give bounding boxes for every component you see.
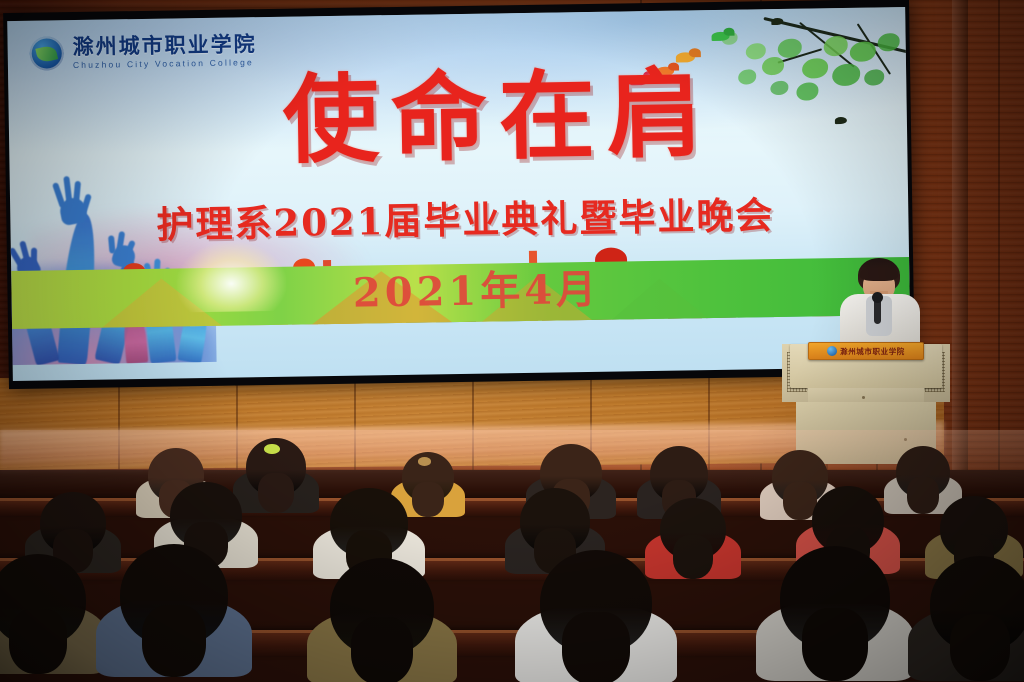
college-logo: 滁州城市职业学院 Chuzhou City Vocation College [29, 33, 257, 71]
hair-scrunchie [418, 457, 432, 466]
leaf [850, 41, 876, 61]
wall-corner [952, 0, 968, 470]
audience-member [170, 482, 242, 548]
audience-member [246, 438, 306, 496]
bird-icon [771, 17, 785, 26]
audience-member [0, 554, 86, 646]
lectern-screw [862, 396, 865, 399]
audience-hair-fall [9, 609, 67, 673]
audience-hair-fall [562, 612, 629, 682]
college-name-cn: 滁州城市职业学院 [72, 33, 256, 57]
audience-hair-fall [258, 473, 294, 514]
audience-area [0, 430, 1024, 682]
wall-seam [998, 0, 1000, 470]
leaf [746, 43, 766, 59]
audience-member [930, 556, 1024, 652]
audience-member [402, 452, 454, 502]
sun-glow [176, 241, 287, 313]
bird-icon [711, 30, 733, 42]
hair-scrunchie [264, 444, 280, 454]
presenter-fringe [860, 267, 898, 281]
microphone-head [872, 292, 883, 303]
audience-hair-fall [351, 617, 413, 682]
audience-member [40, 492, 106, 554]
audience-hair-fall [412, 482, 443, 517]
audience-member [940, 496, 1008, 560]
audience-member [650, 446, 708, 502]
audience-member [330, 558, 434, 656]
slide-headline: 使命在肩 [178, 64, 819, 170]
audience-member [330, 488, 408, 558]
nameplate-emblem-icon [827, 346, 837, 356]
lectern-nameplate: 滁州城市职业学院 [808, 342, 924, 360]
leaf [864, 69, 884, 85]
slide-dateline: 2021年4月 [311, 269, 642, 314]
leaf [832, 64, 860, 86]
audience-member [520, 488, 590, 554]
presenter [838, 258, 922, 344]
projection-screen: 滁州城市职业学院 Chuzhou City Vocation College [7, 7, 911, 381]
auditorium-photo: 滁州城市职业学院 Chuzhou City Vocation College [0, 0, 1024, 682]
audience-member [660, 498, 726, 560]
audience-hair-fall [673, 535, 713, 578]
audience-hair-fall [802, 608, 868, 681]
audience-member [812, 486, 884, 554]
bird-icon [835, 116, 849, 125]
audience-hair-fall [907, 477, 939, 513]
audience-hair-fall [950, 614, 1010, 681]
college-emblem-icon [29, 36, 64, 71]
nameplate-text: 滁州城市职业学院 [840, 346, 905, 357]
projection-screen-frame: 滁州城市职业学院 Chuzhou City Vocation College [3, 0, 915, 389]
audience-member [540, 550, 652, 654]
audience-member [896, 446, 950, 498]
audience-hair-fall [142, 605, 207, 676]
audience-member [780, 546, 890, 650]
audience-member [120, 544, 228, 646]
leaf [824, 36, 848, 56]
